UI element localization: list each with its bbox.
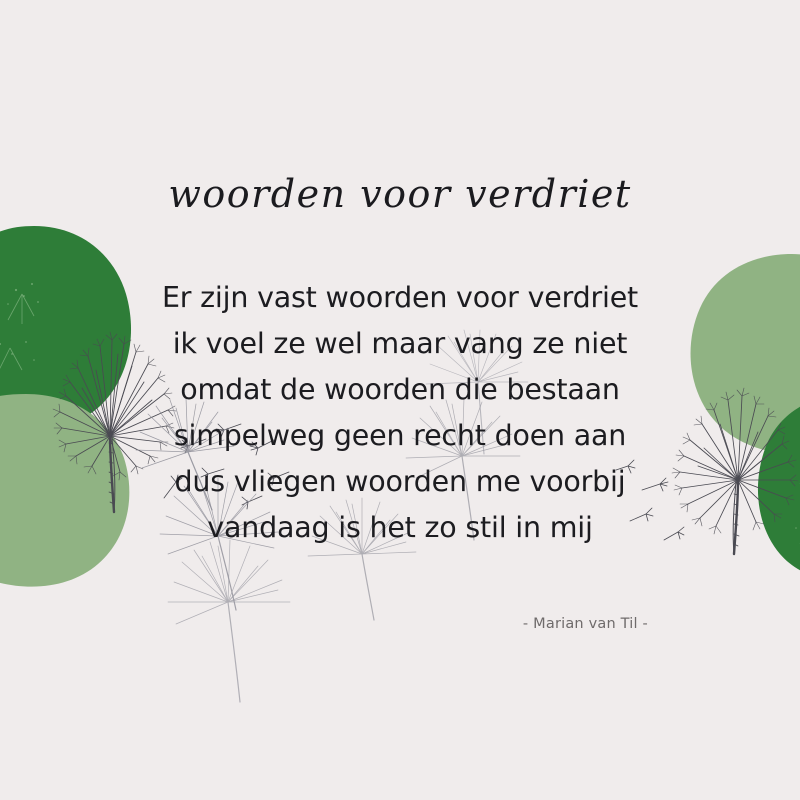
poem-body: Er zijn vast woorden voor verdriet ik vo…: [0, 275, 800, 551]
poem-line: ik voel ze wel maar vang ze niet: [0, 321, 800, 367]
poem-line: simpelweg geen recht doen aan: [0, 413, 800, 459]
page-title: woorden voor verdriet: [0, 172, 800, 216]
poem-poster: woorden voor verdriet Er zijn vast woord…: [0, 0, 800, 800]
poem-text-block: woorden voor verdriet Er zijn vast woord…: [0, 0, 800, 800]
poem-line: Er zijn vast woorden voor verdriet: [0, 275, 800, 321]
poem-line: dus vliegen woorden me voorbij: [0, 459, 800, 505]
poem-line: omdat de woorden die bestaan: [0, 367, 800, 413]
poem-attribution: - Marian van Til -: [0, 616, 800, 632]
poem-line: vandaag is het zo stil in mij: [0, 505, 800, 551]
